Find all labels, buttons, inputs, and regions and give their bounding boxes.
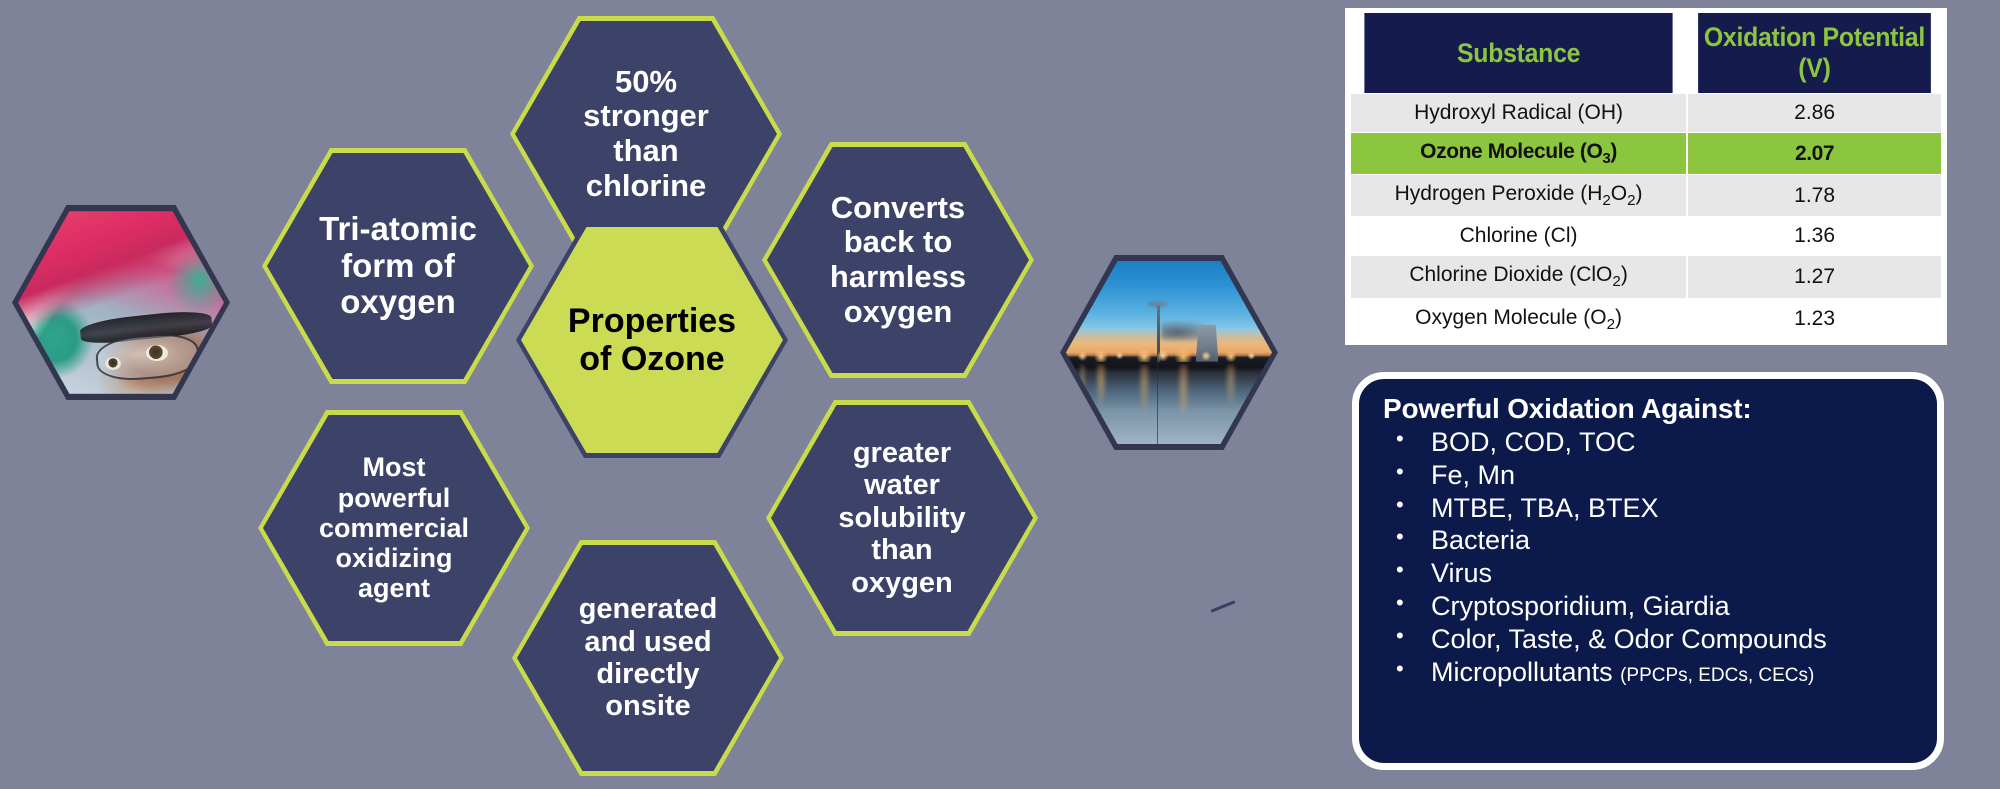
slide-canvas: Tri-atomic form of oxygen 50% stronger t…	[0, 0, 2000, 789]
table-row: Hydrogen Peroxide (H2O2) 1.78	[1351, 175, 1941, 216]
hex-label: 50% stronger than chlorine	[540, 65, 753, 204]
table-row: Chlorine (Cl) 1.36	[1351, 217, 1941, 255]
hex-label: Tri-atomic form of oxygen	[276, 211, 521, 322]
table-row: Oxygen Molecule (O2) 1.23	[1351, 299, 1941, 340]
list-item-note: (PPCPs, EDCs, CECs)	[1620, 665, 1814, 686]
table-header-substance: Substance	[1364, 13, 1672, 93]
table-row: Chlorine Dioxide (ClO2) 1.27	[1351, 256, 1941, 297]
hex-tri-atomic[interactable]: Tri-atomic form of oxygen	[262, 148, 534, 384]
cell-value: 2.86	[1688, 94, 1941, 132]
list-item: Color, Taste, & Odor Compounds	[1383, 623, 1919, 656]
cell-substance: Oxygen Molecule (O2)	[1351, 299, 1686, 340]
hex-label: generated and used directly onsite	[549, 593, 747, 723]
cell-substance: Ozone Molecule (O3)	[1351, 133, 1686, 174]
hex-label: greater water solubility than oxygen	[808, 437, 995, 599]
table-header-row: Substance Oxidation Potential (V)	[1351, 13, 1941, 93]
plant-photo-hexagon	[1060, 255, 1278, 450]
hex-label: Most powerful commercial oxidizing agent	[284, 452, 505, 603]
hex-center-label: Properties of Ozone	[543, 302, 760, 378]
panel-title: Powerful Oxidation Against:	[1383, 393, 1919, 425]
hex-center-properties-of-ozone[interactable]: Properties of Ozone	[516, 222, 788, 458]
cell-value: 1.36	[1688, 217, 1941, 255]
hex-stronger-than-chlorine[interactable]: 50% stronger than chlorine	[510, 16, 782, 252]
cell-value: 1.27	[1688, 256, 1941, 297]
cell-substance: Hydrogen Peroxide (H2O2)	[1351, 175, 1686, 216]
hex-most-powerful-oxidizer[interactable]: Most powerful commercial oxidizing agent	[258, 410, 530, 646]
hex-water-solubility[interactable]: greater water solubility than oxygen	[766, 400, 1038, 636]
table-header-oxidation-potential: Oxidation Potential (V)	[1698, 13, 1931, 93]
cell-value: 1.78	[1688, 175, 1941, 216]
list-item: Bacteria	[1383, 524, 1919, 557]
stray-mark	[1210, 600, 1235, 613]
lab-photo-hexagon	[12, 205, 230, 400]
cell-substance: Chlorine (Cl)	[1351, 217, 1686, 255]
panel-bullet-list: BOD, COD, TOC Fe, Mn MTBE, TBA, BTEX Bac…	[1383, 426, 1919, 688]
list-item: MTBE, TBA, BTEX	[1383, 492, 1919, 525]
powerful-oxidation-panel: Powerful Oxidation Against: BOD, COD, TO…	[1352, 372, 1944, 770]
hex-label: Converts back to harmless oxygen	[786, 191, 1009, 330]
list-item: Virus	[1383, 557, 1919, 590]
list-item: Cryptosporidium, Giardia	[1383, 590, 1919, 623]
list-item: BOD, COD, TOC	[1383, 426, 1919, 459]
cell-substance: Chlorine Dioxide (ClO2)	[1351, 256, 1686, 297]
table-row-highlighted: Ozone Molecule (O3) 2.07	[1351, 133, 1941, 174]
cell-substance: Hydroxyl Radical (OH)	[1351, 94, 1686, 132]
list-item: Fe, Mn	[1383, 459, 1919, 492]
list-item: Micropollutants (PPCPs, EDCs, CECs)	[1383, 656, 1919, 689]
oxidation-potential-table: Substance Oxidation Potential (V) Hydrox…	[1345, 8, 1947, 345]
hex-generated-onsite[interactable]: generated and used directly onsite	[512, 540, 784, 776]
hex-converts-back-to-oxygen[interactable]: Converts back to harmless oxygen	[762, 142, 1034, 378]
cell-value: 1.23	[1688, 299, 1941, 340]
table-row: Hydroxyl Radical (OH) 2.86	[1351, 94, 1941, 132]
cell-value: 2.07	[1688, 133, 1941, 174]
